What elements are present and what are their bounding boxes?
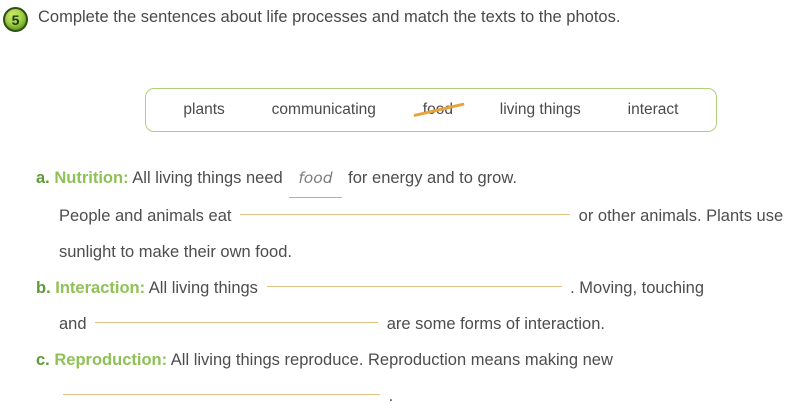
question-b-line2-after: are some forms of interaction.: [387, 315, 605, 333]
question-c-line-1: c. Reproduction: All living things repro…: [36, 342, 796, 378]
exercise-number-badge: 5: [3, 7, 28, 32]
exercise-header: 5 Complete the sentences about life proc…: [0, 0, 799, 32]
word-bank-label: communicating: [272, 101, 376, 118]
question-a-term: Nutrition:: [54, 169, 128, 187]
question-a-text-after: for energy and to grow.: [348, 169, 517, 187]
question-a-line2-after: or other animals. Plants use: [579, 207, 784, 225]
exercise-instruction: Complete the sentences about life proces…: [38, 4, 620, 31]
question-a-text-before: All living things need: [132, 169, 282, 187]
word-bank-label: interact: [628, 101, 679, 118]
question-a-answer-field[interactable]: food: [289, 160, 341, 198]
word-bank: plants communicating food living things …: [145, 88, 717, 132]
question-a-blank-1[interactable]: [240, 214, 570, 215]
question-c-text: All living things reproduce. Reproductio…: [171, 351, 613, 369]
question-b-blank-2[interactable]: [95, 322, 378, 323]
question-a-line-3: sunlight to make their own food.: [36, 234, 796, 270]
question-a-line3-text: sunlight to make their own food.: [59, 243, 292, 261]
question-b-term: Interaction:: [55, 279, 145, 297]
word-bank-item-used[interactable]: food: [423, 101, 453, 119]
question-b-line-2: and are some forms of interaction.: [36, 306, 796, 342]
question-b-line2-before: and: [59, 315, 87, 333]
question-c-line2-after: .: [389, 387, 394, 405]
question-b-text-before: All living things: [149, 279, 258, 297]
word-bank-label: living things: [500, 101, 581, 118]
word-bank-item[interactable]: interact: [628, 101, 679, 119]
question-b-line-1: b. Interaction: All living things . Movi…: [36, 270, 796, 306]
word-bank-item[interactable]: plants: [183, 101, 224, 119]
word-bank-label: food: [423, 101, 453, 118]
question-a-line2-before: People and animals eat: [59, 207, 231, 225]
question-b-blank-1[interactable]: [267, 286, 562, 287]
word-bank-item[interactable]: communicating: [272, 101, 376, 119]
question-a-line-2: People and animals eat or other animals.…: [36, 198, 796, 234]
question-a-line-1: a. Nutrition: All living things need foo…: [36, 160, 796, 198]
question-a-marker: a.: [36, 169, 50, 187]
question-c-term: Reproduction:: [54, 351, 167, 369]
word-bank-item[interactable]: living things: [500, 101, 581, 119]
question-c-marker: c.: [36, 351, 50, 369]
question-b-marker: b.: [36, 279, 51, 297]
word-bank-label: plants: [183, 101, 224, 118]
questions-list: a. Nutrition: All living things need foo…: [36, 160, 796, 414]
question-c-blank-1[interactable]: [63, 394, 380, 395]
question-b-text-after: . Moving, touching: [570, 279, 704, 297]
